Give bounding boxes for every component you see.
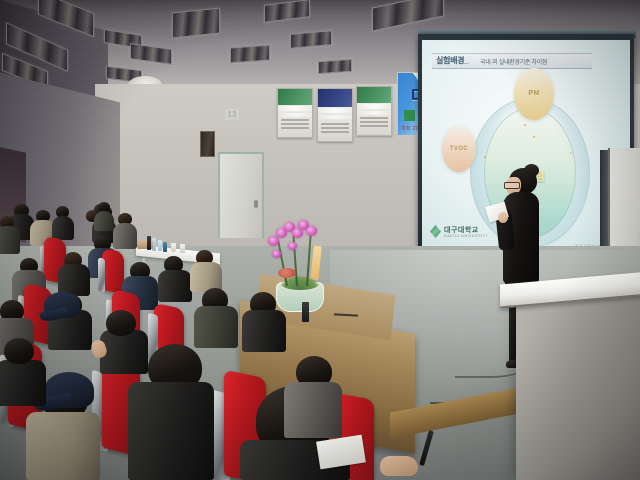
auditorium-seat[interactable] bbox=[102, 248, 124, 294]
audience-head bbox=[106, 310, 136, 336]
slide-dot bbox=[524, 124, 526, 126]
wall-poster bbox=[277, 88, 313, 138]
wall-poster bbox=[356, 86, 392, 136]
poster-text-lines bbox=[360, 115, 387, 129]
slide-dot bbox=[484, 156, 486, 158]
paper-cup bbox=[171, 243, 176, 252]
poster-glare bbox=[278, 106, 312, 111]
audience-body bbox=[113, 223, 137, 249]
attendee-hand bbox=[380, 456, 418, 476]
exit-door[interactable] bbox=[218, 152, 264, 238]
door-handle[interactable] bbox=[254, 200, 258, 208]
ceiling-light-fixture bbox=[230, 45, 270, 64]
slide-bubble-tvoc: TVOC bbox=[442, 126, 476, 172]
slide-title-bar: 실험배경_ 국내·외 실내환경기준 차이점 bbox=[432, 53, 592, 69]
seat-frame bbox=[98, 257, 105, 292]
audience-body bbox=[284, 382, 342, 438]
water-bottle bbox=[158, 240, 162, 251]
ceiling-light-fixture bbox=[318, 59, 352, 74]
slide-bubble-pm: PM bbox=[514, 68, 554, 120]
university-logo-icon bbox=[430, 225, 441, 238]
water-bottle-on-stage bbox=[302, 302, 309, 322]
audience-body bbox=[94, 211, 114, 231]
slide-bubble-tvoc-label: TVOC bbox=[442, 146, 476, 152]
poster-glare bbox=[318, 108, 352, 113]
beverage-can bbox=[163, 242, 167, 252]
thermos bbox=[147, 236, 151, 250]
slide-dot bbox=[533, 136, 535, 138]
audience-body bbox=[26, 412, 100, 480]
audience-body bbox=[158, 270, 192, 302]
orchid-flower bbox=[272, 250, 281, 258]
presenter-hand bbox=[498, 212, 508, 223]
poster-band bbox=[278, 89, 312, 105]
poster-glare bbox=[318, 115, 352, 119]
audience-body bbox=[0, 226, 20, 254]
poster-glare bbox=[357, 104, 391, 109]
orchid-flower bbox=[288, 242, 297, 250]
glasses-icon bbox=[504, 182, 520, 189]
photograph-scene: 13 대구 대 개최 2009. 11. 실험배경_ 국내·외 실내환경기준 차… bbox=[0, 0, 640, 480]
orchid-flower bbox=[306, 226, 317, 236]
audience-body bbox=[52, 216, 74, 240]
podium bbox=[516, 292, 640, 480]
room-number-sign: 13 bbox=[225, 109, 239, 120]
poster-band bbox=[318, 89, 352, 107]
audience-body bbox=[242, 310, 286, 352]
audience-body bbox=[0, 360, 46, 406]
slide-bubble-pm-label: PM bbox=[514, 90, 554, 97]
orchid-accent-blooms bbox=[278, 268, 296, 278]
poster-text-lines bbox=[321, 121, 348, 135]
ceiling-light-fixture bbox=[172, 7, 220, 38]
banner-mark-icon bbox=[404, 110, 415, 121]
orchid-flower bbox=[268, 236, 279, 246]
paper-cup bbox=[180, 244, 185, 253]
slide-subtitle: 국내·외 실내환경기준 차이점 bbox=[480, 57, 547, 66]
wall-poster bbox=[317, 88, 353, 142]
audience-body bbox=[128, 382, 214, 480]
audience-body bbox=[194, 306, 238, 348]
audience-head bbox=[4, 338, 34, 364]
slide-title: 실험배경_ bbox=[436, 55, 468, 66]
poster-band bbox=[357, 87, 391, 103]
slide-dot bbox=[570, 152, 572, 154]
wall-speaker-icon bbox=[200, 131, 215, 157]
poster-text-lines bbox=[281, 117, 308, 131]
audience-body bbox=[100, 330, 148, 374]
slide-logo-subtext: DAEGU UNIVERSITY bbox=[444, 233, 488, 238]
